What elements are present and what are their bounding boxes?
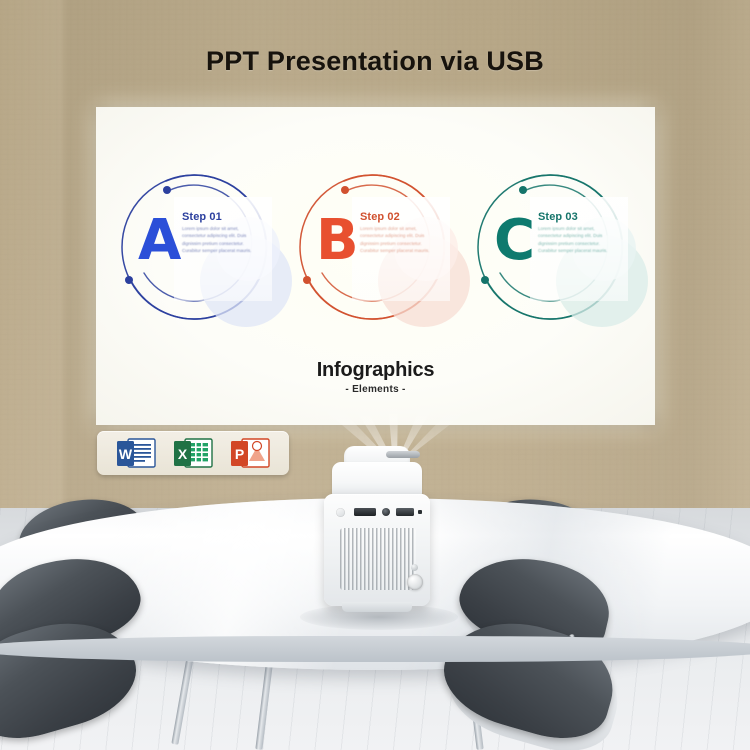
svg-text:W: W	[119, 446, 133, 462]
slide-footer-title: Infographics	[96, 359, 655, 382]
svg-text:P: P	[235, 446, 244, 462]
audio-jack-port[interactable]	[382, 508, 390, 516]
step-group-2[interactable]: B Step 02 Lorem ipsum dolor sit amet, co…	[286, 161, 472, 333]
projection-screen[interactable]: A Step 01 Lorem ipsum dolor sit amet, co…	[96, 107, 655, 425]
step-group-1[interactable]: A Step 01 Lorem ipsum dolor sit amet, co…	[108, 161, 294, 333]
office-formats-badge[interactable]: W X	[97, 431, 289, 475]
step-letter-1: A	[138, 213, 180, 269]
power-led	[418, 510, 422, 514]
projector-top-shell	[332, 462, 422, 496]
focus-knob[interactable]	[336, 508, 345, 517]
step-title-2: Step 02	[360, 211, 400, 223]
projector-vent-panel	[340, 528, 416, 590]
projector-body	[324, 494, 430, 606]
projector-port-row	[336, 506, 420, 518]
microsoft-word-icon[interactable]: W	[115, 437, 157, 469]
slide-footer-subtitle: - Elements -	[96, 384, 655, 395]
hdmi-port[interactable]	[354, 508, 376, 516]
conference-table-edge	[0, 636, 750, 662]
lens-cover[interactable]	[386, 451, 420, 458]
page-title: PPT Presentation via USB	[0, 46, 750, 77]
conference-room-scene: PPT Presentation via USB A Step 01 Lorem…	[0, 0, 750, 750]
step-body-3: Lorem ipsum dolor sit amet, consectetur …	[538, 225, 618, 255]
step-body-2: Lorem ipsum dolor sit amet, consectetur …	[360, 225, 440, 255]
step-group-3[interactable]: C Step 03 Lorem ipsum dolor sit amet, co…	[464, 161, 650, 333]
step-body-1: Lorem ipsum dolor sit amet, consectetur …	[182, 225, 262, 255]
microsoft-powerpoint-icon[interactable]: P	[229, 437, 271, 469]
microsoft-excel-icon[interactable]: X	[172, 437, 214, 469]
keystone-dial-secondary[interactable]	[411, 564, 418, 571]
projector-foot	[342, 602, 412, 612]
step-title-3: Step 03	[538, 211, 578, 223]
svg-text:X: X	[178, 446, 188, 462]
usb-port[interactable]	[396, 508, 414, 516]
step-letter-2: B	[316, 213, 358, 269]
projector-device[interactable]	[318, 446, 436, 616]
step-letter-3: C	[494, 213, 534, 269]
vent-grille	[340, 528, 416, 590]
presentation-slide: A Step 01 Lorem ipsum dolor sit amet, co…	[96, 107, 655, 425]
keystone-dial[interactable]	[407, 574, 423, 590]
step-title-1: Step 01	[182, 211, 222, 223]
